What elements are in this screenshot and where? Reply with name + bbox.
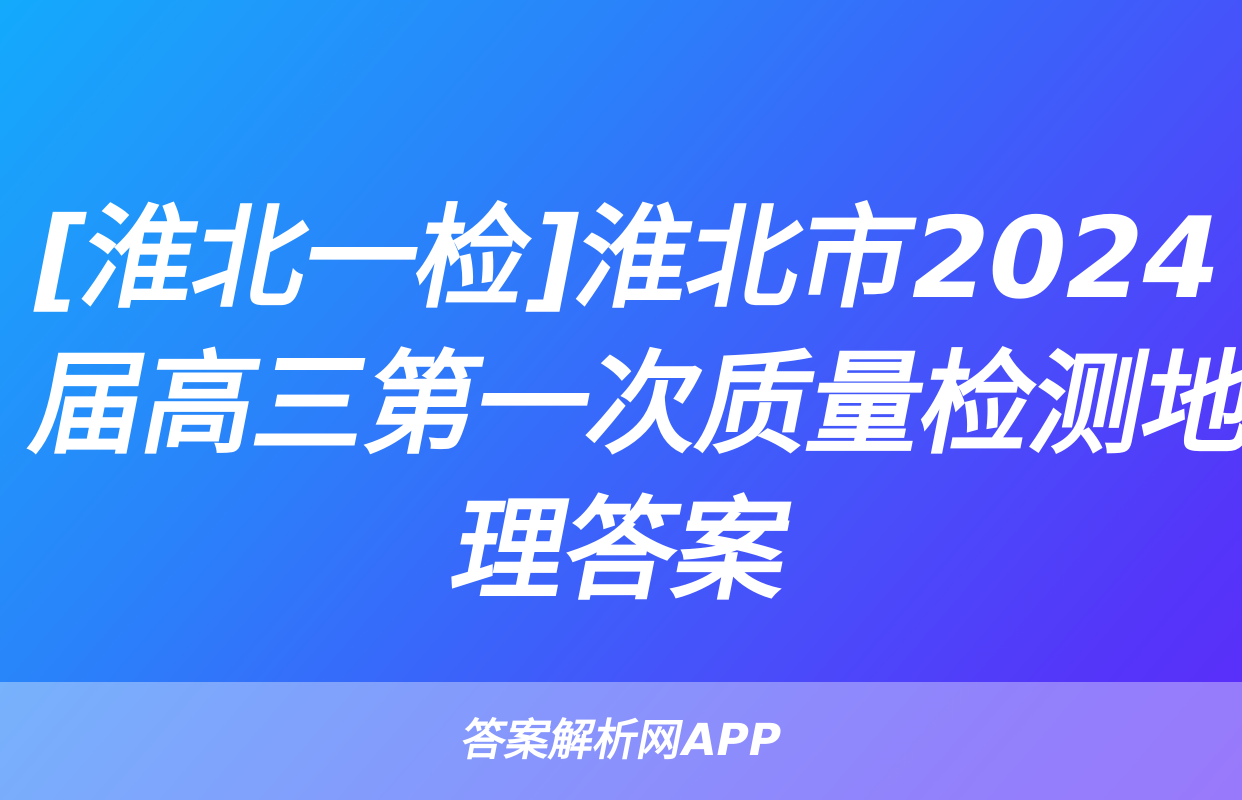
page-title-line-3: 理答案 bbox=[20, 478, 1222, 624]
watermark-band: 答案解析网APP bbox=[0, 682, 1242, 800]
page-title-line-1: [淮北一检]淮北市2024 bbox=[20, 186, 1222, 332]
page-title: [淮北一检]淮北市2024 届高三第一次质量检测地 理答案 bbox=[0, 186, 1242, 624]
page-title-line-2: 届高三第一次质量检测地 bbox=[20, 332, 1222, 478]
poster-canvas: [淮北一检]淮北市2024 届高三第一次质量检测地 理答案 答案解析网APP bbox=[0, 0, 1242, 800]
watermark-label: 答案解析网APP bbox=[457, 717, 785, 765]
